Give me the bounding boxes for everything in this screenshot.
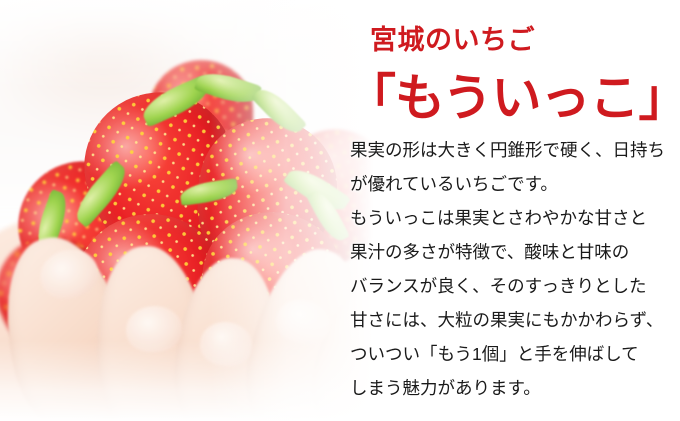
- description-line: もういっこは果実とさわやかな甘さと: [350, 201, 680, 235]
- description-line: 果実の形は大きく円錐形で硬く、日持ち: [350, 133, 680, 167]
- product-title: 「もういっこ」: [346, 58, 680, 130]
- description-line: 甘さには、大粒の果実にもかかわらず、: [350, 303, 680, 337]
- strawberry-product-banner: 宮城のいちご 「もういっこ」 果実の形は大きく円錐形で硬く、日持ち が優れている…: [0, 0, 680, 421]
- description-line: 果汁の多さが特徴で、酸味と甘味の: [350, 235, 680, 269]
- text-panel: 宮城のいちご 「もういっこ」 果実の形は大きく円錐形で硬く、日持ち が優れている…: [340, 0, 680, 421]
- description-line: バランスが良く、そのすっきりとした: [350, 269, 680, 303]
- description-line: が優れているいちごです。: [350, 167, 680, 201]
- description-line: ついつい「もう1個」と手を伸ばして: [350, 337, 680, 371]
- product-description: 果実の形は大きく円錐形で硬く、日持ち が優れているいちごです。 もういっこは果実…: [350, 133, 680, 405]
- product-subtitle: 宮城のいちご: [370, 18, 535, 57]
- description-line: しまう魅力があります。: [350, 371, 680, 405]
